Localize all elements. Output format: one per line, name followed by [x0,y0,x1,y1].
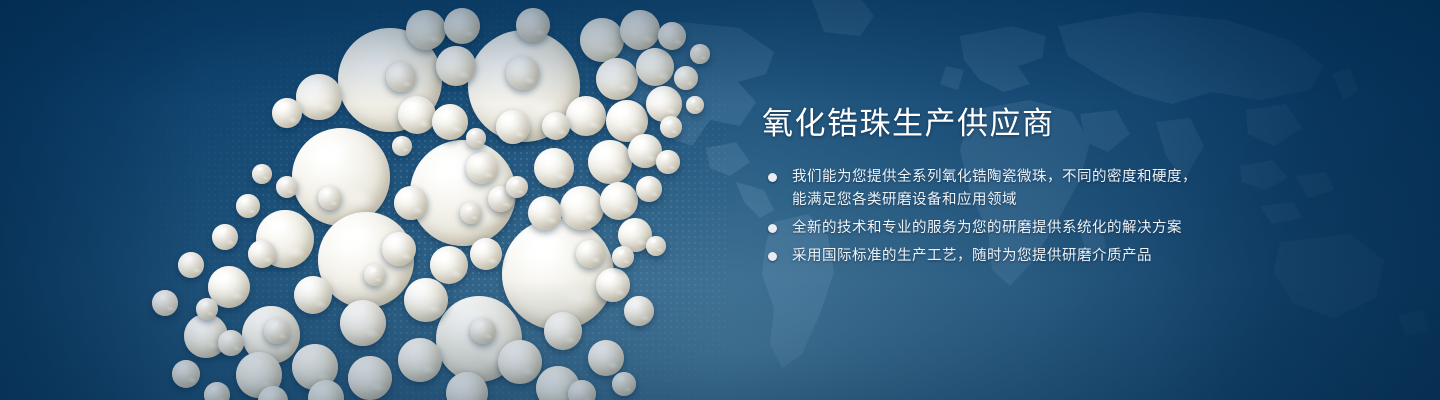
bullet-dot-icon [768,252,777,261]
hero-copy: 氧化锆珠生产供应商 我们能为您提供全系列氧化锆陶瓷微珠，不同的密度和硬度， 能满… [762,104,1362,273]
bullet-dot-icon [768,173,777,182]
list-item: 采用国际标准的生产工艺，随时为您提供研磨介质产品 [762,245,1362,268]
page-title: 氧化锆珠生产供应商 [762,104,1362,144]
bullet-dot-icon [768,224,777,233]
list-item: 我们能为您提供全系列氧化锆陶瓷微珠，不同的密度和硬度， 能满足您各类研磨设备和应… [762,166,1362,212]
list-item: 全新的技术和专业的服务为您的研磨提供系统化的解决方案 [762,217,1362,240]
hero-banner: 氧化锆珠生产供应商 我们能为您提供全系列氧化锆陶瓷微珠，不同的密度和硬度， 能满… [0,0,1440,400]
bullet-text: 采用国际标准的生产工艺，随时为您提供研磨介质产品 [792,245,1362,268]
bullet-text: 我们能为您提供全系列氧化锆陶瓷微珠，不同的密度和硬度， [792,166,1362,189]
bullet-text-continuation: 能满足您各类研磨设备和应用领域 [792,189,1362,212]
bullet-text: 全新的技术和专业的服务为您的研磨提供系统化的解决方案 [792,217,1362,240]
feature-bullet-list: 我们能为您提供全系列氧化锆陶瓷微珠，不同的密度和硬度， 能满足您各类研磨设备和应… [762,166,1362,268]
